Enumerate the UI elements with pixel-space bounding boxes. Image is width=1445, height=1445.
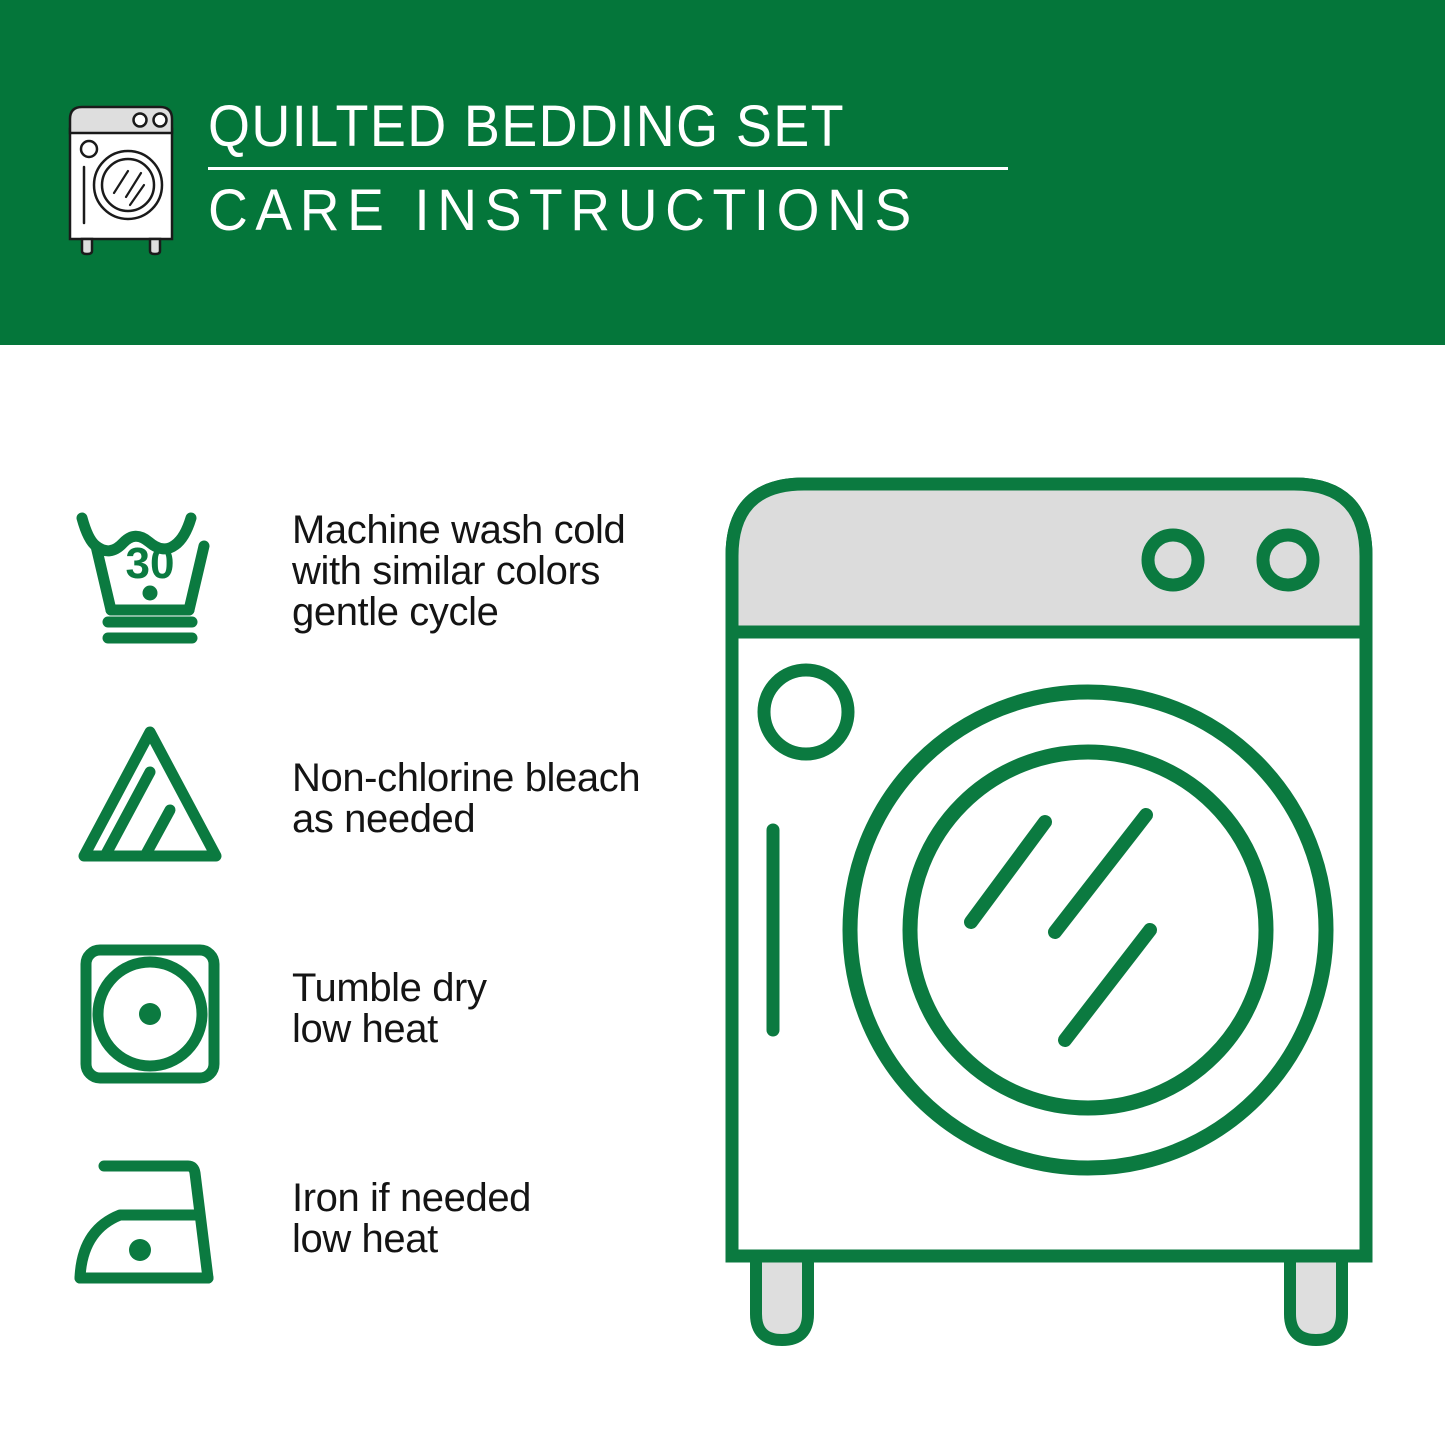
care-text-machine-wash: Machine wash cold with similar colors ge… — [292, 500, 625, 633]
care-instruction-list: 30 Machine wash cold with similar colors… — [0, 345, 722, 1445]
wash-tub-30-gentle-icon: 30 — [70, 500, 230, 650]
machine-legs — [756, 1252, 1342, 1340]
header-content: QUILTED BEDDING SET CARE INSTRUCTIONS — [62, 95, 1008, 256]
care-text-iron: Iron if needed low heat — [292, 1150, 531, 1260]
care-row-iron: Iron if needed low heat — [70, 1150, 710, 1300]
care-line: Tumble dry — [292, 968, 487, 1009]
care-line: with similar colors — [292, 551, 625, 592]
washing-machine-icon — [62, 101, 180, 256]
care-line: Iron if needed — [292, 1178, 531, 1219]
header-titles: QUILTED BEDDING SET CARE INSTRUCTIONS — [208, 95, 1008, 242]
care-line: gentle cycle — [292, 592, 625, 633]
care-text-tumble-dry: Tumble dry low heat — [292, 940, 487, 1050]
care-line: Non-chlorine bleach — [292, 758, 640, 799]
title-divider — [208, 167, 1008, 170]
care-row-machine-wash: 30 Machine wash cold with similar colors… — [70, 500, 710, 650]
iron-low-heat-icon — [70, 1150, 230, 1300]
svg-text:30: 30 — [126, 539, 175, 588]
tumble-dry-low-icon — [70, 940, 230, 1090]
care-row-tumble-dry: Tumble dry low heat — [70, 940, 710, 1090]
non-chlorine-bleach-triangle-icon — [70, 720, 230, 870]
care-row-bleach: Non-chlorine bleach as needed — [70, 720, 710, 870]
front-load-washing-machine-illustration — [718, 470, 1418, 1370]
care-text-bleach: Non-chlorine bleach as needed — [292, 720, 640, 840]
control-knob — [1148, 535, 1198, 585]
header-band: QUILTED BEDDING SET CARE INSTRUCTIONS — [0, 0, 1445, 345]
care-line: as needed — [292, 799, 640, 840]
care-instructions-page: QUILTED BEDDING SET CARE INSTRUCTIONS — [0, 0, 1445, 1445]
care-line: low heat — [292, 1219, 531, 1260]
page-title: QUILTED BEDDING SET — [208, 95, 952, 159]
care-line: low heat — [292, 1009, 487, 1050]
care-line: Machine wash cold — [292, 510, 625, 551]
control-knob — [1263, 535, 1313, 585]
door-inner-ring — [910, 752, 1266, 1108]
detergent-cap — [764, 670, 848, 754]
page-subtitle: CARE INSTRUCTIONS — [208, 180, 968, 242]
